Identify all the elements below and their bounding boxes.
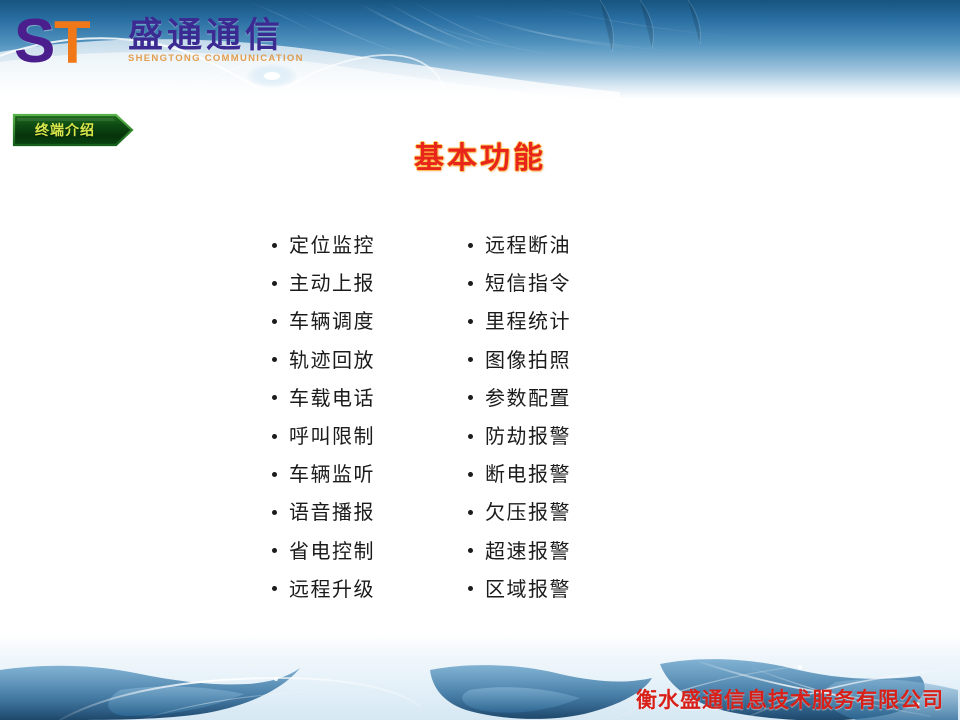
feature-item: 省电控制	[272, 532, 375, 570]
feature-item: 里程统计	[468, 302, 571, 340]
feature-item-label: 远程断油	[485, 235, 571, 255]
logo-letter-t: T	[54, 15, 90, 71]
bullet-dot-icon	[272, 281, 277, 286]
feature-item-label: 短信指令	[485, 273, 571, 293]
feature-item: 定位监控	[272, 226, 375, 264]
bullet-dot-icon	[272, 472, 277, 477]
feature-item-label: 呼叫限制	[289, 426, 375, 446]
feature-item-label: 轨迹回放	[289, 350, 375, 370]
feature-item: 车载电话	[272, 379, 375, 417]
feature-item: 车辆监听	[272, 455, 375, 493]
feature-item: 超速报警	[468, 532, 571, 570]
feature-item-label: 语音播报	[289, 502, 375, 522]
feature-item: 短信指令	[468, 264, 571, 302]
feature-item: 轨迹回放	[272, 341, 375, 379]
bullet-dot-icon	[468, 548, 473, 553]
feature-item-label: 参数配置	[485, 388, 571, 408]
page-title: 基本功能	[0, 133, 960, 177]
feature-item-label: 超速报警	[485, 541, 571, 561]
feature-item: 防劫报警	[468, 417, 571, 455]
bullet-dot-icon	[272, 548, 277, 553]
footer-banner: 衡水盛通信息技术服务有限公司	[0, 634, 960, 720]
bullet-dot-icon	[468, 586, 473, 591]
bullet-dot-icon	[468, 472, 473, 477]
feature-list: 定位监控主动上报车辆调度轨迹回放车载电话呼叫限制车辆监听语音播报省电控制远程升级…	[0, 226, 960, 616]
feature-item-label: 防劫报警	[485, 426, 571, 446]
feature-column-right: 远程断油短信指令里程统计图像拍照参数配置防劫报警断电报警欠压报警超速报警区域报警	[468, 226, 571, 608]
feature-item: 参数配置	[468, 379, 571, 417]
feature-item-label: 车载电话	[289, 388, 375, 408]
feature-item: 呼叫限制	[272, 417, 375, 455]
feature-item-label: 欠压报警	[485, 502, 571, 522]
feature-item: 远程升级	[272, 570, 375, 608]
logo-company-name-en: SHENGTONG COMMUNICATION	[128, 53, 304, 64]
feature-item-label: 断电报警	[485, 464, 571, 484]
feature-item-label: 省电控制	[289, 541, 375, 561]
logo-mark: S T	[14, 14, 118, 70]
feature-item: 车辆调度	[272, 302, 375, 340]
feature-item-label: 定位监控	[289, 235, 375, 255]
bullet-dot-icon	[272, 434, 277, 439]
logo-letter-s: S	[14, 14, 53, 70]
bullet-dot-icon	[468, 243, 473, 248]
feature-item: 远程断油	[468, 226, 571, 264]
feature-item: 主动上报	[272, 264, 375, 302]
company-logo: S T 盛通通信 SHENGTONG COMMUNICATION	[14, 14, 304, 76]
feature-item-label: 主动上报	[289, 273, 375, 293]
bullet-dot-icon	[272, 586, 277, 591]
feature-item: 区域报警	[468, 570, 571, 608]
bullet-dot-icon	[468, 281, 473, 286]
section-tab-terminal-intro[interactable]: 终端介绍	[12, 113, 134, 147]
bullet-dot-icon	[468, 395, 473, 400]
feature-item: 断电报警	[468, 455, 571, 493]
presentation-slide: S T 盛通通信 SHENGTONG COMMUNICATION	[0, 0, 960, 720]
feature-item-label: 图像拍照	[485, 350, 571, 370]
logo-company-name-cn: 盛通通信	[128, 16, 304, 56]
footer-company-name: 衡水盛通信息技术服务有限公司	[636, 684, 944, 714]
feature-item-label: 车辆调度	[289, 311, 375, 331]
feature-item-label: 车辆监听	[289, 464, 375, 484]
feature-column-left: 定位监控主动上报车辆调度轨迹回放车载电话呼叫限制车辆监听语音播报省电控制远程升级	[272, 226, 375, 608]
feature-item-label: 远程升级	[289, 579, 375, 599]
bullet-dot-icon	[272, 395, 277, 400]
bullet-dot-icon	[468, 434, 473, 439]
feature-item-label: 区域报警	[485, 579, 571, 599]
bullet-dot-icon	[272, 319, 277, 324]
feature-item: 欠压报警	[468, 493, 571, 531]
bullet-dot-icon	[272, 243, 277, 248]
logo-wordmark: 盛通通信 SHENGTONG COMMUNICATION	[128, 14, 304, 64]
feature-item-label: 里程统计	[485, 311, 571, 331]
feature-item: 图像拍照	[468, 341, 571, 379]
bullet-dot-icon	[468, 510, 473, 515]
bullet-dot-icon	[272, 357, 277, 362]
section-tab-shape	[12, 113, 134, 147]
feature-item: 语音播报	[272, 493, 375, 531]
bullet-dot-icon	[468, 319, 473, 324]
bullet-dot-icon	[468, 357, 473, 362]
bullet-dot-icon	[272, 510, 277, 515]
